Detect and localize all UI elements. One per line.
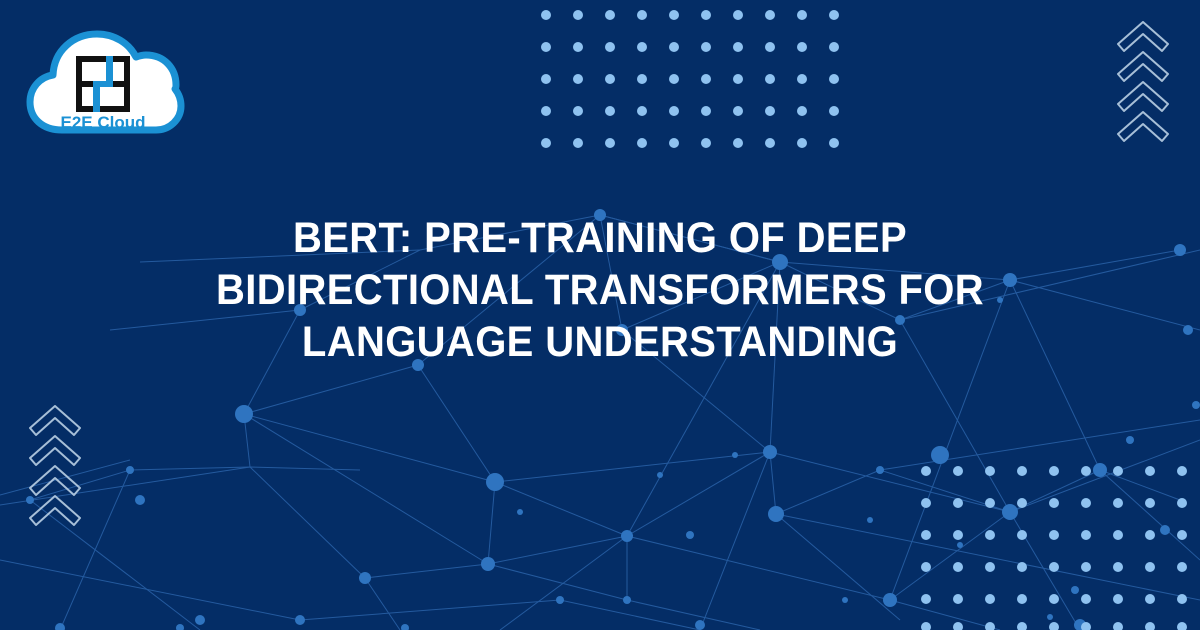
chevron-up-icon <box>30 496 80 525</box>
title-line-3: Language Understanding <box>42 316 1158 368</box>
logo-wordmark: E2E Cloud <box>60 113 145 132</box>
e2e-cloud-logo[interactable]: E2E Cloud <box>18 18 186 146</box>
title-line-1: BERT: Pre-training of Deep <box>42 212 1158 264</box>
cloud-icon: E2E Cloud <box>18 18 186 146</box>
social-share-banner: E2E Cloud BERT: Pre-training of Deep Bid… <box>0 0 1200 630</box>
chevron-up-icon <box>30 436 80 465</box>
title-line-2: Bidirectional Transformers for <box>42 264 1158 316</box>
e2e-mark <box>76 56 130 112</box>
chevron-up-icon <box>30 466 80 495</box>
page-title: BERT: Pre-training of Deep Bidirectional… <box>0 212 1200 368</box>
chevron-up-icon <box>30 406 80 435</box>
